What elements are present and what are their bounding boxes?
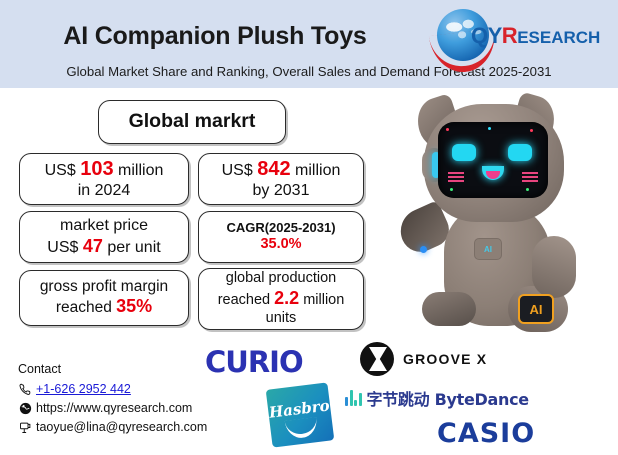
robot-cheek-right	[522, 172, 538, 182]
global-production-value: 2.2	[274, 288, 299, 308]
robot-face-screen	[438, 122, 548, 198]
stat-box-cagr: CAGR(2025-2031) 35.0%	[198, 211, 364, 263]
contact-phone-row[interactable]: +1-626 2952 442	[18, 380, 268, 399]
casio-logo: CASIO	[437, 418, 535, 449]
cagr-value: 35.0%	[260, 236, 301, 252]
global-production-suffix: million	[299, 292, 344, 308]
robot-cheek-left	[448, 172, 464, 182]
ai-plush-robot-cat-image: AI AI	[392, 96, 607, 342]
market-2024-content: US$ 103 million in 2024	[20, 157, 188, 201]
mailbox-icon	[18, 420, 33, 435]
globe-icon	[18, 401, 33, 416]
robot-leg-left	[422, 292, 476, 326]
global-production-label: global production	[226, 270, 336, 286]
market-2024-year: in 2024	[78, 182, 131, 199]
logo-text-esearch: ESEARCH	[517, 28, 600, 47]
market-price-content: market price US$ 47 per unit	[20, 216, 188, 257]
contact-phone-value[interactable]: +1-626 2952 442	[36, 380, 131, 399]
cagr-content: CAGR(2025-2031) 35.0%	[199, 220, 363, 254]
contact-website-row[interactable]: https://www.qyresearch.com	[18, 399, 268, 418]
logo-text-r: R	[502, 23, 517, 48]
market-price-prefix: US$	[47, 239, 83, 256]
market-price-value: 47	[83, 236, 103, 256]
robot-arm-right	[532, 236, 576, 298]
global-production-content: global production reached 2.2 million un…	[199, 270, 363, 327]
gross-margin-prefix: reached	[56, 299, 116, 316]
infographic-page: AI Companion Plush Toys Global Market Sh…	[0, 0, 618, 455]
market-2031-value: 842	[257, 158, 290, 180]
gross-margin-value: 35%	[116, 296, 152, 316]
market-2024-prefix: US$	[45, 162, 81, 179]
logo-text-qy: QY	[471, 23, 502, 48]
page-title: AI Companion Plush Toys	[0, 22, 430, 51]
contact-email-value[interactable]: taoyue@lina@qyresearch.com	[36, 418, 207, 437]
gross-margin-content: gross profit margin reached 35%	[20, 278, 188, 319]
stat-box-global-market: Global markrt	[98, 100, 286, 144]
market-2031-suffix: million	[291, 162, 341, 179]
stat-box-market-2031: US$ 842 million by 2031	[198, 153, 364, 205]
bytedance-bars-icon	[345, 390, 362, 406]
groove-x-logo: GROOVE X	[360, 341, 487, 377]
global-production-units: units	[266, 310, 297, 326]
groove-x-mark-icon	[360, 342, 394, 376]
gross-margin-label: gross profit margin	[40, 278, 168, 295]
page-subtitle: Global Market Share and Ranking, Overall…	[0, 64, 618, 79]
groove-x-logo-text: GROOVE X	[403, 351, 487, 367]
robot-chest-ai-badge: AI	[474, 238, 502, 260]
bytedance-logo-text: 字节跳动 ByteDance	[367, 386, 529, 410]
robot-eye-right	[508, 144, 532, 161]
curio-logo: CURIO	[205, 345, 303, 379]
bytedance-logo: 字节跳动 ByteDance	[345, 386, 529, 410]
header-banner: AI Companion Plush Toys Global Market Sh…	[0, 0, 618, 88]
robot-screen-led-1	[446, 128, 449, 131]
contact-email-row[interactable]: taoyue@lina@qyresearch.com	[18, 418, 268, 437]
robot-screen-led-4	[450, 188, 453, 191]
hasbro-smile-icon	[285, 417, 319, 440]
market-2031-prefix: US$	[222, 162, 258, 179]
qyresearch-logo-text: QYRESEARCH	[471, 23, 600, 49]
stat-box-market-price: market price US$ 47 per unit	[19, 211, 189, 263]
stat-box-gross-margin: gross profit margin reached 35%	[19, 270, 189, 326]
hasbro-logo: Hasbro	[266, 382, 335, 447]
market-2024-suffix: million	[114, 162, 164, 179]
qyresearch-logo: QYRESEARCH	[425, 8, 595, 66]
global-production-prefix: reached	[218, 292, 274, 308]
robot-foot-ai-badge: AI	[518, 294, 554, 324]
robot-screen-led-3	[530, 129, 533, 132]
cagr-label: CAGR(2025-2031)	[226, 220, 335, 235]
market-price-label: market price	[60, 217, 148, 234]
robot-screen-led-2	[488, 127, 491, 130]
robot-mouth	[482, 166, 504, 180]
hasbro-logo-text: Hasbro	[267, 396, 331, 421]
phone-icon	[18, 382, 33, 397]
market-price-suffix: per unit	[103, 239, 161, 256]
stat-box-market-2024: US$ 103 million in 2024	[19, 153, 189, 205]
market-2031-content: US$ 842 million by 2031	[199, 157, 363, 201]
robot-paw-glow-light	[420, 246, 427, 253]
robot-screen-led-5	[526, 188, 529, 191]
global-market-label: Global markrt	[99, 110, 285, 134]
market-2024-value: 103	[80, 158, 113, 180]
market-2031-year: by 2031	[253, 182, 310, 199]
stat-box-global-production: global production reached 2.2 million un…	[198, 268, 364, 330]
robot-eye-left	[452, 144, 476, 161]
contact-website-value[interactable]: https://www.qyresearch.com	[36, 399, 192, 418]
